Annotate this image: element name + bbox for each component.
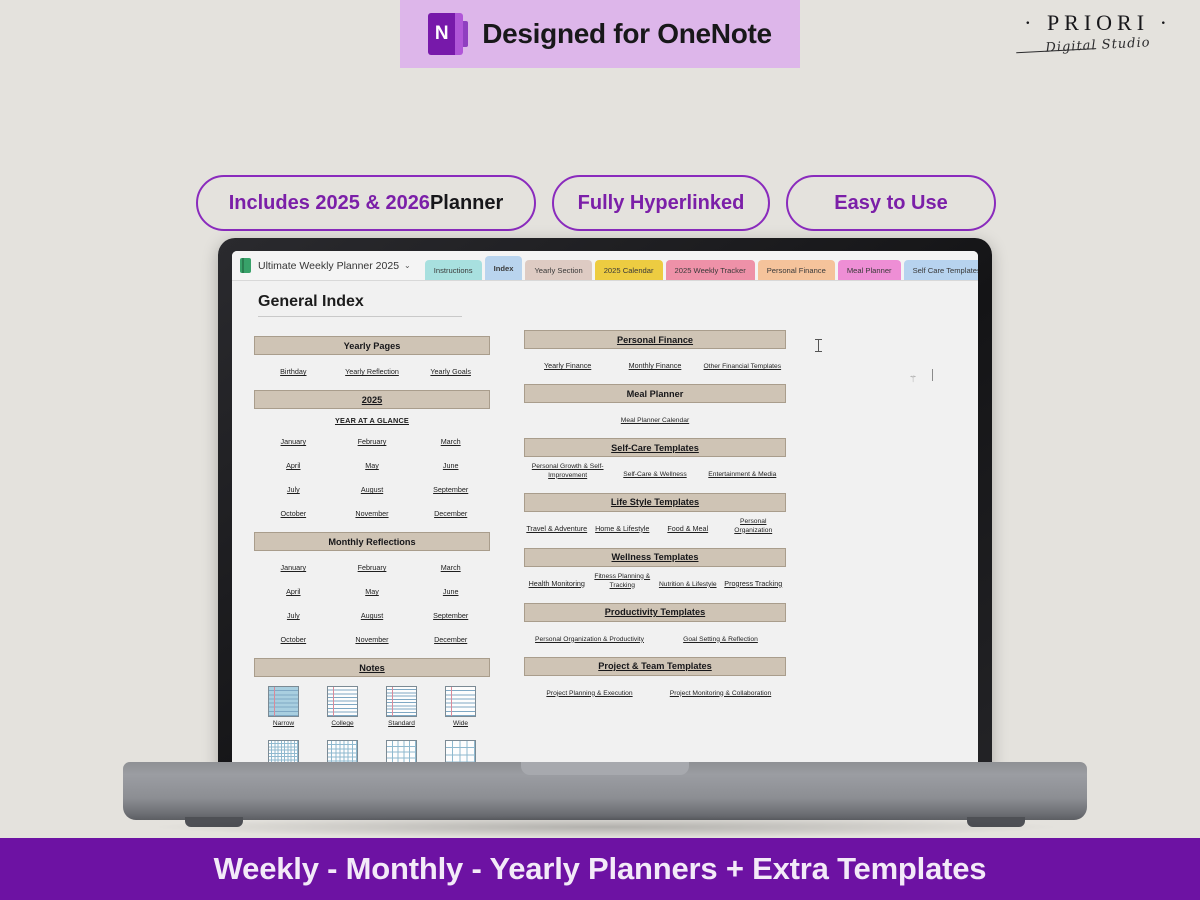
onenote-top-bar: Ultimate Weekly Planner 2025 ⌄ Instructi… bbox=[232, 251, 978, 281]
link-cell: Personal Organization bbox=[721, 518, 787, 537]
link-health-monitoring[interactable]: Health Monitoring bbox=[529, 579, 585, 589]
link-cell: Nutrition & Lifestyle bbox=[655, 573, 721, 592]
link-cell: Yearly Reflection bbox=[333, 361, 412, 379]
link-april[interactable]: April bbox=[286, 461, 300, 471]
tab-2025-calendar[interactable]: 2025 Calendar bbox=[595, 260, 663, 281]
tab-label: 2025 Calendar bbox=[604, 266, 654, 275]
laptop-lid: Ultimate Weekly Planner 2025 ⌄ Instructi… bbox=[218, 238, 992, 780]
tab-personal-finance[interactable]: Personal Finance bbox=[758, 260, 835, 281]
section-header-monthly-reflections: Monthly Reflections bbox=[254, 532, 490, 551]
brand-tagline-text: Digital Studio bbox=[1045, 35, 1151, 55]
link-june[interactable]: June bbox=[443, 587, 459, 597]
link-december[interactable]: December bbox=[434, 635, 467, 645]
link-cell: March bbox=[411, 557, 490, 575]
link-february[interactable]: February bbox=[358, 563, 387, 573]
onenote-logo-icon: N bbox=[428, 13, 468, 55]
note-style-label[interactable]: Standard bbox=[388, 720, 415, 728]
tab-yearly-section[interactable]: Yearly Section bbox=[525, 260, 591, 281]
ruled-paper-icon bbox=[445, 686, 476, 717]
link-yearly-finance[interactable]: Yearly Finance bbox=[544, 361, 591, 371]
section-header-label: Personal Finance bbox=[617, 335, 693, 345]
section-header-self-care-templates: Self-Care Templates bbox=[524, 438, 786, 457]
tab-instructions[interactable]: Instructions bbox=[425, 260, 482, 281]
link-food-meal[interactable]: Food & Meal bbox=[667, 524, 708, 534]
section-header-label: Monthly Reflections bbox=[328, 537, 415, 547]
section-subheader-year-2025: YEAR AT A GLANCE bbox=[254, 416, 490, 425]
link-july[interactable]: July bbox=[287, 611, 300, 621]
link-cell: Travel & Adventure bbox=[524, 518, 590, 537]
laptop-mockup: Ultimate Weekly Planner 2025 ⌄ Instructi… bbox=[218, 238, 992, 783]
brand-name: · PRIORI · bbox=[1010, 10, 1186, 36]
link-march[interactable]: March bbox=[441, 563, 461, 573]
link-cell: Food & Meal bbox=[655, 518, 721, 537]
link-cell: May bbox=[333, 581, 412, 599]
link-cell: December bbox=[411, 629, 490, 647]
link-cell: August bbox=[333, 605, 412, 623]
link-november[interactable]: November bbox=[355, 635, 388, 645]
link-august[interactable]: August bbox=[361, 485, 383, 495]
link-cell: Project Monitoring & Collaboration bbox=[655, 682, 786, 700]
link-cell: Project Planning & Execution bbox=[524, 682, 655, 700]
link-cell: April bbox=[254, 581, 333, 599]
link-personal-organization[interactable]: Personal Organization bbox=[721, 518, 787, 536]
margin-line bbox=[392, 687, 393, 716]
link-other-financial-templates[interactable]: Other Financial Templates bbox=[704, 363, 782, 372]
link-monthly-finance[interactable]: Monthly Finance bbox=[629, 361, 682, 371]
note-style-label[interactable]: College bbox=[331, 720, 353, 728]
bottom-banner: Weekly - Monthly - Yearly Planners + Ext… bbox=[0, 838, 1200, 900]
page-title: General Index bbox=[258, 293, 978, 311]
feature-pill-easy-to-use[interactable]: Easy to Use bbox=[786, 175, 996, 231]
link-may[interactable]: May bbox=[365, 461, 379, 471]
link-row: Yearly FinanceMonthly FinanceOther Finan… bbox=[524, 355, 786, 373]
link-row: OctoberNovemberDecember bbox=[254, 629, 490, 647]
link-yearly-goals[interactable]: Yearly Goals bbox=[430, 367, 471, 377]
note-style-label[interactable]: Narrow bbox=[273, 720, 294, 728]
link-cell: Entertainment & Media bbox=[699, 463, 786, 482]
section-header-meal-planner: Meal Planner bbox=[524, 384, 786, 403]
link-september[interactable]: September bbox=[433, 611, 468, 621]
brand-logo: · PRIORI · Digital Studio bbox=[1010, 10, 1186, 72]
link-row: Travel & AdventureHome & LifestyleFood &… bbox=[524, 518, 786, 537]
link-project-planning-execution[interactable]: Project Planning & Execution bbox=[546, 690, 632, 699]
link-cell: February bbox=[333, 431, 412, 449]
link-meal-planner-calendar[interactable]: Meal Planner Calendar bbox=[621, 417, 689, 426]
section-header-yearly-pages: Yearly Pages bbox=[254, 336, 490, 355]
laptop-screen: Ultimate Weekly Planner 2025 ⌄ Instructi… bbox=[232, 251, 978, 767]
onenote-page: General Index ⚚ Yearly PagesBirthdayYear… bbox=[232, 281, 978, 767]
note-style-label[interactable]: Wide bbox=[453, 720, 468, 728]
tab-label: Self Care Templates bbox=[913, 266, 978, 275]
link-self-care-wellness[interactable]: Self-Care & Wellness bbox=[623, 471, 686, 480]
link-birthday[interactable]: Birthday bbox=[280, 367, 306, 377]
text-cursor-icon bbox=[818, 339, 819, 352]
poster-canvas: N Designed for OneNote · PRIORI · Digita… bbox=[0, 0, 1200, 900]
link-august[interactable]: August bbox=[361, 611, 383, 621]
feature-pills: Includes 2025 & 2026 Planner Fully Hyper… bbox=[196, 174, 996, 232]
pill-3-label: Easy to Use bbox=[834, 192, 947, 215]
link-cell: Meal Planner Calendar bbox=[524, 409, 786, 427]
laptop-base-notch bbox=[521, 762, 689, 775]
link-cell: April bbox=[254, 455, 333, 473]
link-cell: Yearly Goals bbox=[411, 361, 490, 379]
link-may[interactable]: May bbox=[365, 587, 379, 597]
margin-line bbox=[333, 687, 334, 716]
link-cell: January bbox=[254, 557, 333, 575]
page-caret-icon bbox=[932, 369, 933, 381]
link-row: JanuaryFebruaryMarch bbox=[254, 557, 490, 575]
ruled-paper-icon bbox=[386, 686, 417, 717]
link-cell: Progress Tracking bbox=[721, 573, 787, 592]
laptop-shadow bbox=[148, 816, 1064, 838]
laptop-base bbox=[123, 762, 1087, 820]
section-header-label: Wellness Templates bbox=[612, 552, 699, 562]
tab-label: Instructions bbox=[434, 266, 473, 275]
section-header-label: Life Style Templates bbox=[611, 497, 699, 507]
link-january[interactable]: January bbox=[281, 563, 307, 573]
badge-title: Designed for OneNote bbox=[482, 18, 772, 50]
link-cell: July bbox=[254, 605, 333, 623]
section-header-wellness-templates: Wellness Templates bbox=[524, 548, 786, 567]
section-header-label: Self-Care Templates bbox=[611, 443, 699, 453]
link-row: OctoberNovemberDecember bbox=[254, 503, 490, 521]
link-personal-organization-productivity[interactable]: Personal Organization & Productivity bbox=[535, 636, 644, 645]
link-row: Health MonitoringFitness Planning & Trac… bbox=[524, 573, 786, 592]
link-row: Meal Planner Calendar bbox=[524, 409, 786, 427]
notebook-name[interactable]: Ultimate Weekly Planner 2025 bbox=[258, 260, 399, 272]
link-cell: September bbox=[411, 479, 490, 497]
link-cell: Personal Organization & Productivity bbox=[524, 628, 655, 646]
link-project-monitoring-collaboration[interactable]: Project Monitoring & Collaboration bbox=[670, 690, 771, 699]
tab-label: Personal Finance bbox=[767, 266, 826, 275]
section-header-label: Meal Planner bbox=[627, 389, 684, 399]
link-cell: Personal Growth & Self-Improvement bbox=[524, 463, 611, 482]
brand-tagline: Digital Studio bbox=[1010, 33, 1187, 57]
note-style-standard[interactable]: Standard bbox=[372, 686, 431, 728]
section-header-label: 2025 bbox=[362, 395, 382, 405]
ruled-paper-icon bbox=[268, 686, 299, 717]
onenote-logo-letter: N bbox=[428, 13, 455, 55]
page-glyph-icon: ⚚ bbox=[909, 374, 917, 385]
link-cell: October bbox=[254, 503, 333, 521]
margin-line bbox=[274, 687, 275, 716]
link-cell: January bbox=[254, 431, 333, 449]
link-cell: September bbox=[411, 605, 490, 623]
index-right-column: Personal FinanceYearly FinanceMonthly Fi… bbox=[524, 319, 786, 767]
link-cell: Goal Setting & Reflection bbox=[655, 628, 786, 646]
note-style-grid: NarrowCollegeStandardWideSmallMediumLarg… bbox=[254, 686, 490, 767]
link-cell: February bbox=[333, 557, 412, 575]
link-personal-growth-self-improvement[interactable]: Personal Growth & Self-Improvement bbox=[524, 463, 611, 481]
link-november[interactable]: November bbox=[355, 509, 388, 519]
link-september[interactable]: September bbox=[433, 485, 468, 495]
tab-2025-weekly-tracker[interactable]: 2025 Weekly Tracker bbox=[666, 260, 755, 281]
chevron-down-icon[interactable]: ⌄ bbox=[404, 261, 411, 270]
link-entertainment-media[interactable]: Entertainment & Media bbox=[708, 471, 776, 480]
tab-label: Yearly Section bbox=[534, 266, 582, 275]
section-header-personal-finance: Personal Finance bbox=[524, 330, 786, 349]
section-header-year-2025: 2025 bbox=[254, 390, 490, 409]
link-october[interactable]: October bbox=[281, 509, 307, 519]
section-header-notes: Notes bbox=[254, 658, 490, 677]
note-style-college[interactable]: College bbox=[313, 686, 372, 728]
tab-label: Meal Planner bbox=[847, 266, 892, 275]
section-header-project-team-templates: Project & Team Templates bbox=[524, 657, 786, 676]
link-fitness-planning-tracking[interactable]: Fitness Planning & Tracking bbox=[590, 573, 656, 591]
section-header-life-style-templates: Life Style Templates bbox=[524, 493, 786, 512]
tab-meal-planner[interactable]: Meal Planner bbox=[838, 260, 901, 281]
link-february[interactable]: February bbox=[358, 437, 387, 447]
tab-self-care-templates[interactable]: Self Care Templates bbox=[904, 260, 978, 281]
section-header-label: Productivity Templates bbox=[605, 607, 705, 617]
note-style-wide[interactable]: Wide bbox=[431, 686, 490, 728]
link-cell: May bbox=[333, 455, 412, 473]
link-june[interactable]: June bbox=[443, 461, 459, 471]
link-row: Personal Growth & Self-ImprovementSelf-C… bbox=[524, 463, 786, 482]
link-cell: July bbox=[254, 479, 333, 497]
ruled-paper-icon bbox=[327, 686, 358, 717]
link-travel-adventure[interactable]: Travel & Adventure bbox=[526, 524, 587, 534]
link-nutrition-lifestyle[interactable]: Nutrition & Lifestyle bbox=[659, 581, 717, 590]
link-cell: Other Financial Templates bbox=[699, 355, 786, 373]
link-march[interactable]: March bbox=[441, 437, 461, 447]
link-cell: December bbox=[411, 503, 490, 521]
index-columns: Yearly PagesBirthdayYearly ReflectionYea… bbox=[232, 317, 978, 767]
link-cell: Home & Lifestyle bbox=[590, 518, 656, 537]
link-july[interactable]: July bbox=[287, 485, 300, 495]
section-header-label: Notes bbox=[359, 663, 385, 673]
feature-pill-includes-planner[interactable]: Includes 2025 & 2026 Planner bbox=[196, 175, 536, 231]
link-cell: March bbox=[411, 431, 490, 449]
link-cell: August bbox=[333, 479, 412, 497]
link-april[interactable]: April bbox=[286, 587, 300, 597]
link-october[interactable]: October bbox=[281, 635, 307, 645]
brand-name-text: PRIORI bbox=[1047, 10, 1149, 35]
link-row: Project Planning & ExecutionProject Moni… bbox=[524, 682, 786, 700]
onenote-logo-bar-1 bbox=[455, 13, 463, 55]
margin-line bbox=[451, 687, 452, 716]
link-cell: November bbox=[333, 629, 412, 647]
link-progress-tracking[interactable]: Progress Tracking bbox=[724, 579, 782, 589]
section-tab-strip[interactable]: InstructionsIndexYearly Section2025 Cale… bbox=[425, 251, 978, 281]
feature-pill-fully-hyperlinked[interactable]: Fully Hyperlinked bbox=[552, 175, 770, 231]
link-cell: Self-Care & Wellness bbox=[611, 463, 698, 482]
link-home-lifestyle[interactable]: Home & Lifestyle bbox=[595, 524, 649, 534]
link-row: JulyAugustSeptember bbox=[254, 479, 490, 497]
link-row: Personal Organization & ProductivityGoal… bbox=[524, 628, 786, 646]
pill-1-prefix: Includes 2025 & 2026 bbox=[229, 192, 430, 215]
link-cell: Health Monitoring bbox=[524, 573, 590, 592]
link-goal-setting-reflection[interactable]: Goal Setting & Reflection bbox=[683, 636, 758, 645]
link-cell: Fitness Planning & Tracking bbox=[590, 573, 656, 592]
link-december[interactable]: December bbox=[434, 509, 467, 519]
bottom-banner-text: Weekly - Monthly - Yearly Planners + Ext… bbox=[214, 851, 987, 887]
link-cell: June bbox=[411, 581, 490, 599]
link-row: BirthdayYearly ReflectionYearly Goals bbox=[254, 361, 490, 379]
notebook-icon bbox=[240, 258, 251, 273]
link-row: AprilMayJune bbox=[254, 455, 490, 473]
pill-1-suffix: Planner bbox=[430, 192, 503, 215]
link-cell: November bbox=[333, 503, 412, 521]
link-cell: Yearly Finance bbox=[524, 355, 611, 373]
link-cell: Birthday bbox=[254, 361, 333, 379]
section-header-productivity-templates: Productivity Templates bbox=[524, 603, 786, 622]
link-row: JanuaryFebruaryMarch bbox=[254, 431, 490, 449]
tab-index[interactable]: Index bbox=[485, 256, 523, 281]
link-row: AprilMayJune bbox=[254, 581, 490, 599]
link-january[interactable]: January bbox=[281, 437, 307, 447]
link-row: JulyAugustSeptember bbox=[254, 605, 490, 623]
section-header-label: Project & Team Templates bbox=[598, 661, 712, 671]
index-left-column: Yearly PagesBirthdayYearly ReflectionYea… bbox=[254, 325, 490, 767]
link-yearly-reflection[interactable]: Yearly Reflection bbox=[345, 367, 399, 377]
note-style-narrow[interactable]: Narrow bbox=[254, 686, 313, 728]
tab-label: 2025 Weekly Tracker bbox=[675, 266, 746, 275]
section-header-label: Yearly Pages bbox=[344, 341, 401, 351]
pill-2-label: Fully Hyperlinked bbox=[578, 192, 745, 215]
tab-label: Index bbox=[494, 264, 514, 273]
link-cell: Monthly Finance bbox=[611, 355, 698, 373]
link-cell: October bbox=[254, 629, 333, 647]
link-cell: June bbox=[411, 455, 490, 473]
onenote-logo-bar-2 bbox=[463, 21, 468, 47]
designed-for-onenote-badge: N Designed for OneNote bbox=[400, 0, 800, 68]
